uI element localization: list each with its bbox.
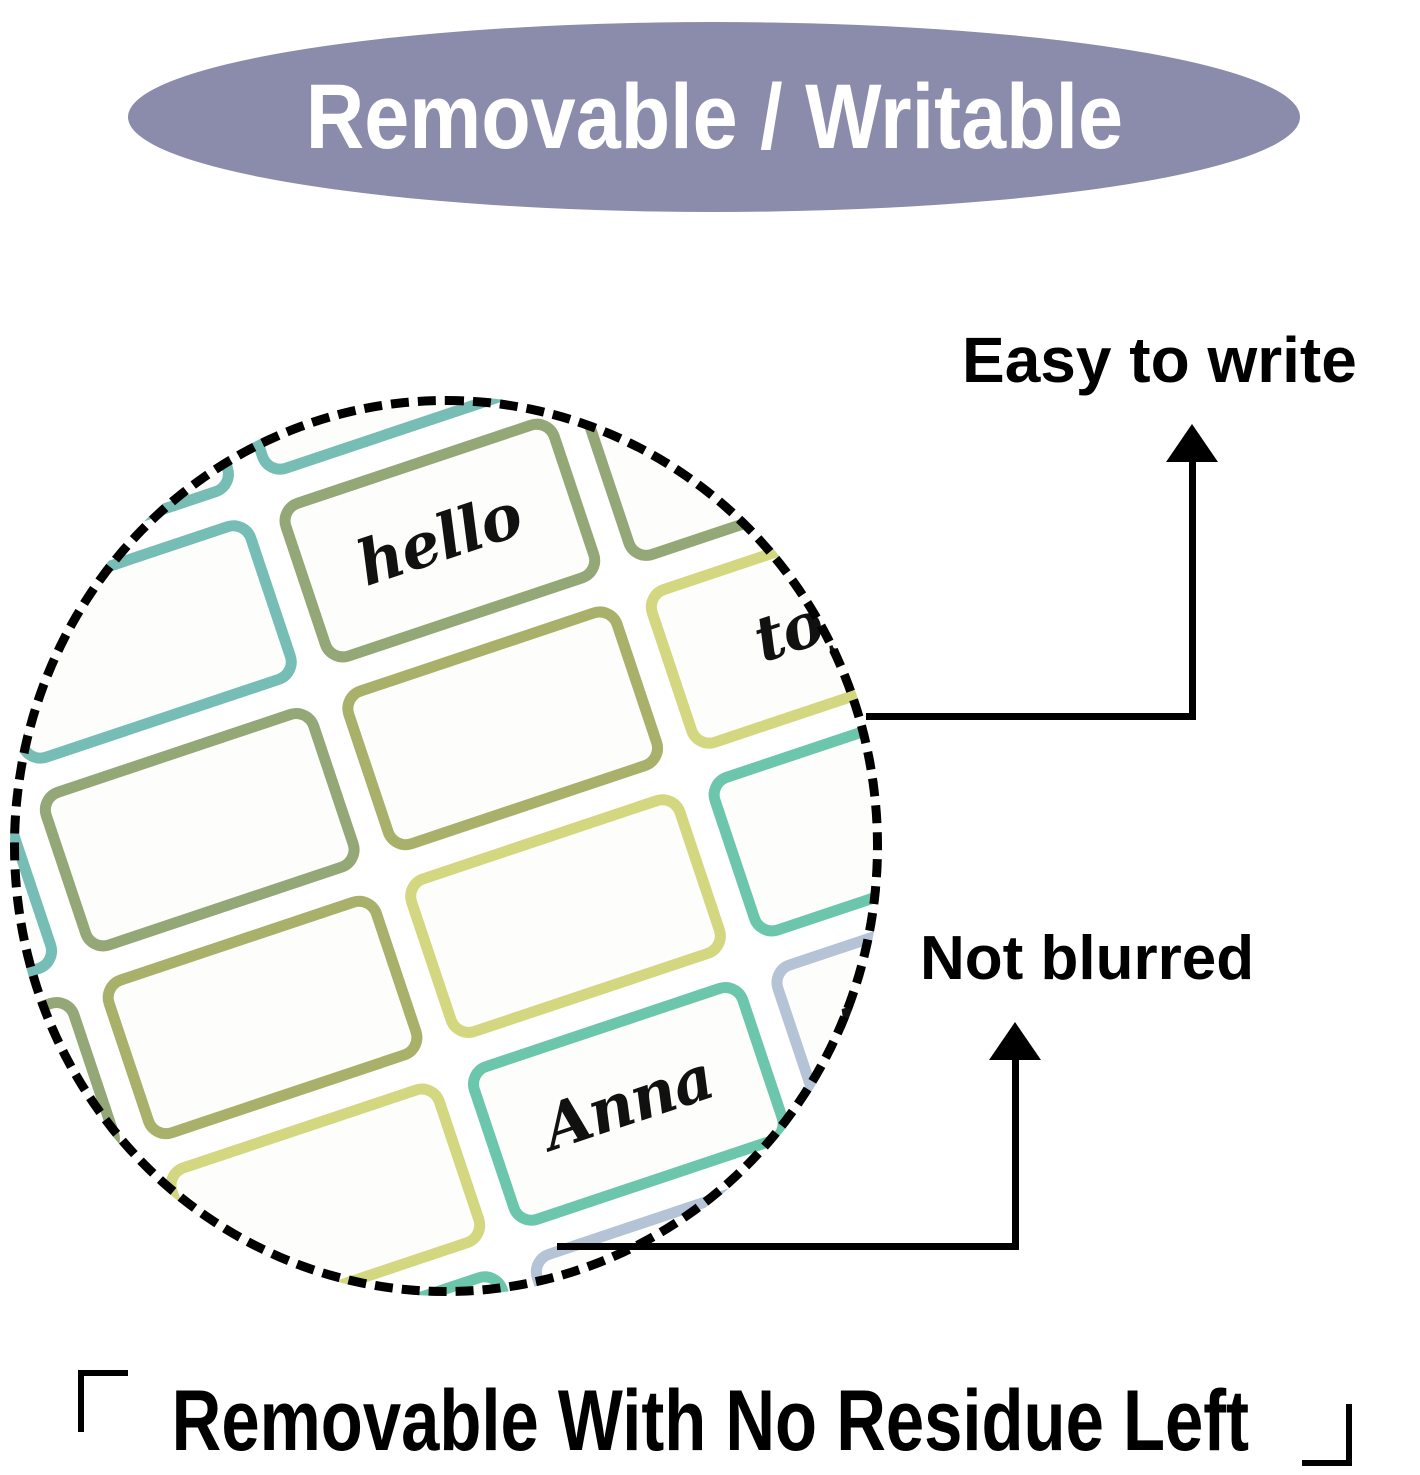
label-handwriting: hello	[299, 462, 580, 617]
label-handwriting: toy	[665, 548, 882, 703]
infographic-page: Removable / Writable hellotoyAnnatravel …	[0, 0, 1420, 1475]
label-sheet: hellotoyAnnatravel	[10, 396, 882, 1296]
label-handwriting: travel	[790, 923, 882, 1078]
arrow-up-icon-not-blurred	[989, 1022, 1041, 1060]
leader-line-vertical-easy-to-write	[1189, 460, 1196, 716]
footer-caption: Removable With No Residue Left	[0, 1378, 1420, 1464]
leader-line-vertical-not-blurred	[1012, 1058, 1019, 1246]
header-banner-title: Removable / Writable	[305, 71, 1122, 163]
product-photo-circle: hellotoyAnnatravel	[10, 396, 882, 1296]
callout-easy-to-write-label: Easy to write	[962, 328, 1357, 392]
label-grid: hellotoyAnnatravel	[10, 396, 882, 1296]
footer-caption-text: Removable With No Residue Left	[171, 1378, 1248, 1464]
label-handwriting: Anna	[487, 1025, 768, 1180]
header-banner: Removable / Writable	[128, 22, 1300, 212]
callout-not-blurred-label: Not blurred	[920, 928, 1254, 990]
leader-line-horizontal-not-blurred	[557, 1243, 1019, 1250]
arrow-up-icon-easy-to-write	[1166, 424, 1218, 462]
label-sticker	[10, 1179, 189, 1296]
leader-line-horizontal-easy-to-write	[866, 713, 1196, 720]
